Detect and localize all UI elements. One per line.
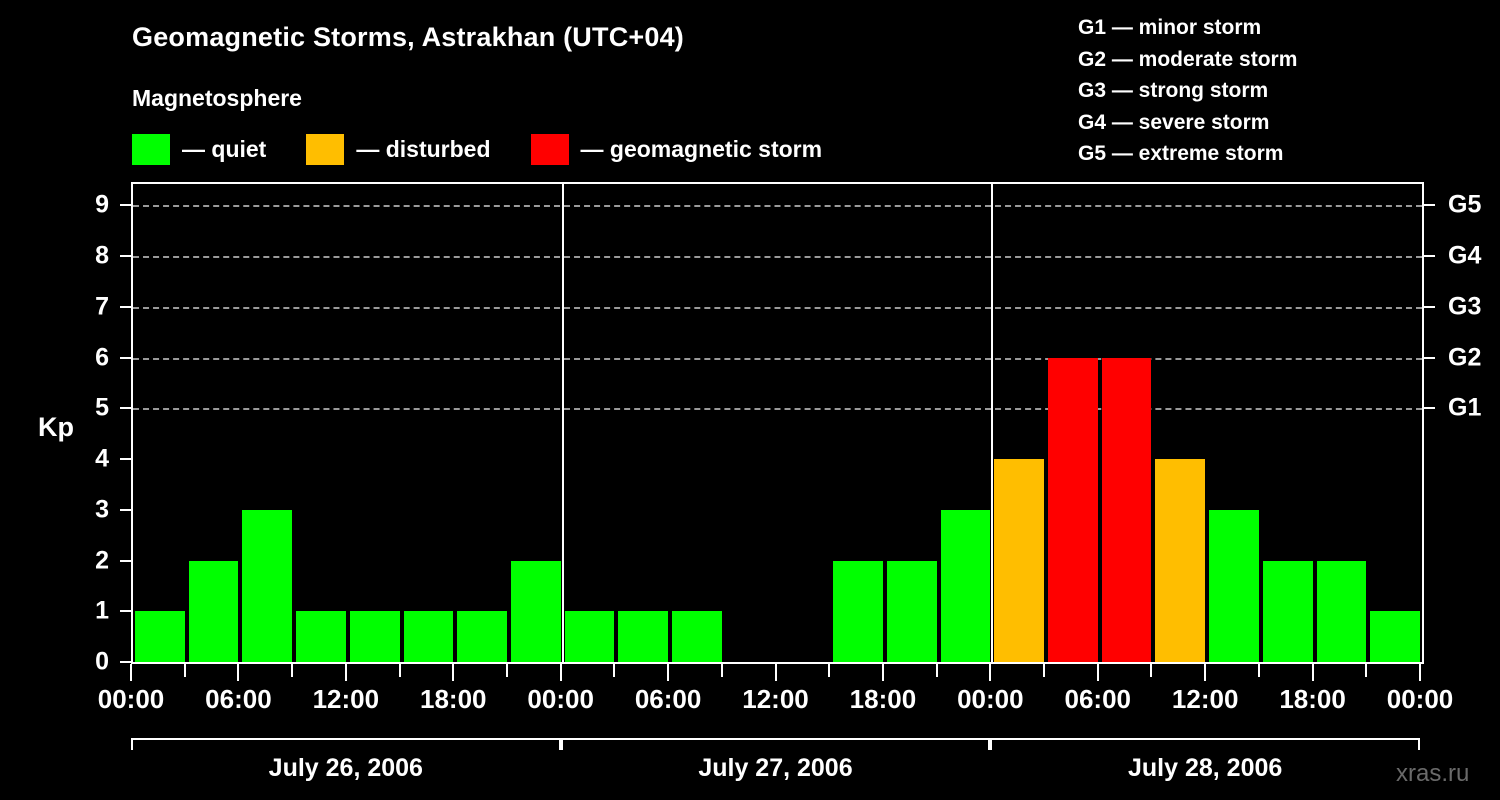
kp-tick-label-2: 2 <box>95 546 109 575</box>
kp-tick-mark-9 <box>120 204 131 206</box>
kp-tick-label-7: 7 <box>95 292 109 321</box>
g-tick-mark-g3 <box>1424 306 1435 308</box>
kp-tick-mark-2 <box>120 560 131 562</box>
time-tick-mark-minor <box>1043 664 1045 677</box>
legend-label-quiet: — quiet <box>182 136 266 163</box>
bar <box>404 611 454 662</box>
time-tick-label: 00:00 <box>98 684 165 715</box>
g-tick-label-g1: G1 <box>1448 394 1481 423</box>
bars-layer <box>133 184 1422 662</box>
kp-tick-mark-0 <box>120 661 131 663</box>
page-title: Geomagnetic Storms, Astrakhan (UTC+04) <box>132 22 684 53</box>
g-scale-line-g2: G2 — moderate storm <box>1078 44 1297 76</box>
kp-tick-label-3: 3 <box>95 495 109 524</box>
g-tick-label-g2: G2 <box>1448 343 1481 372</box>
time-tick-mark <box>667 664 669 681</box>
bar <box>1370 611 1420 662</box>
g-scale-axis: G1G2G3G4G5 <box>1424 182 1500 664</box>
g-tick-mark-g1 <box>1424 407 1435 409</box>
g-tick-label-g4: G4 <box>1448 242 1481 271</box>
g-tick-mark-g4 <box>1424 255 1435 257</box>
bar <box>1209 510 1259 662</box>
orange-swatch-icon <box>306 134 344 165</box>
kp-tick-mark-8 <box>120 255 131 257</box>
bar <box>941 510 991 662</box>
date-band: July 28, 2006 <box>990 738 1420 796</box>
time-tick-mark <box>237 664 239 681</box>
time-tick-label: 12:00 <box>742 684 809 715</box>
bar <box>511 561 561 662</box>
kp-tick-label-0: 0 <box>95 648 109 677</box>
bar <box>296 611 346 662</box>
plot-inner <box>133 184 1422 662</box>
date-band: July 26, 2006 <box>131 738 561 796</box>
green-swatch-icon <box>132 134 170 165</box>
kp-tick-label-8: 8 <box>95 242 109 271</box>
date-band-bracket <box>990 738 1420 750</box>
g-tick-mark-g2 <box>1424 357 1435 359</box>
kp-tick-label-9: 9 <box>95 191 109 220</box>
kp-tick-mark-3 <box>120 509 131 511</box>
bar <box>672 611 722 662</box>
plot-area <box>131 182 1424 664</box>
bar <box>833 561 883 662</box>
g-tick-mark-g5 <box>1424 204 1435 206</box>
time-tick-label: 12:00 <box>313 684 380 715</box>
date-band-bracket <box>131 738 561 750</box>
time-tick-label: 06:00 <box>205 684 272 715</box>
time-tick-label: 18:00 <box>850 684 917 715</box>
red-swatch-icon <box>531 134 569 165</box>
time-tick-mark-minor <box>506 664 508 677</box>
time-tick-mark-minor <box>1150 664 1152 677</box>
g-tick-label-g3: G3 <box>1448 292 1481 321</box>
bar <box>887 561 937 662</box>
time-tick-mark <box>882 664 884 681</box>
kp-tick-label-4: 4 <box>95 445 109 474</box>
y-axis-title: Kp <box>38 412 74 443</box>
geomagnetic-storm-chart: Geomagnetic Storms, Astrakhan (UTC+04) M… <box>0 0 1500 800</box>
kp-tick-label-5: 5 <box>95 394 109 423</box>
bar <box>1155 459 1205 662</box>
time-tick-mark-minor <box>399 664 401 677</box>
time-tick-mark-minor <box>828 664 830 677</box>
legend-label-disturbed: — disturbed <box>356 136 490 163</box>
time-tick-label: 06:00 <box>1065 684 1132 715</box>
date-bands: July 26, 2006July 27, 2006July 28, 2006 <box>131 738 1424 796</box>
time-tick-label: 00:00 <box>1387 684 1454 715</box>
legend-heading: Magnetosphere <box>132 85 302 112</box>
time-axis: 00:0006:0012:0018:0000:0006:0012:0018:00… <box>131 664 1424 724</box>
bar <box>618 611 668 662</box>
g-tick-label-g5: G5 <box>1448 191 1481 220</box>
time-tick-mark <box>452 664 454 681</box>
bar <box>565 611 615 662</box>
kp-tick-label-6: 6 <box>95 343 109 372</box>
time-tick-mark <box>989 664 991 681</box>
kp-tick-mark-4 <box>120 458 131 460</box>
time-tick-mark-minor <box>721 664 723 677</box>
time-tick-mark <box>775 664 777 681</box>
watermark: xras.ru <box>1396 760 1469 788</box>
bar <box>994 459 1044 662</box>
kp-tick-mark-7 <box>120 306 131 308</box>
kp-tick-label-1: 1 <box>95 597 109 626</box>
time-tick-mark <box>130 664 132 681</box>
bar <box>1317 561 1367 662</box>
bar <box>189 561 239 662</box>
time-tick-mark <box>1312 664 1314 681</box>
kp-tick-mark-1 <box>120 610 131 612</box>
kp-tick-mark-5 <box>120 407 131 409</box>
time-tick-mark-minor <box>1365 664 1367 677</box>
g-scale-line-g1: G1 — minor storm <box>1078 12 1297 44</box>
bar <box>1102 358 1152 662</box>
day-separator <box>991 184 993 662</box>
time-tick-mark <box>345 664 347 681</box>
date-band-bracket <box>561 738 991 750</box>
day-separator <box>562 184 564 662</box>
time-tick-label: 06:00 <box>635 684 702 715</box>
time-tick-label: 00:00 <box>527 684 594 715</box>
g-scale-line-g5: G5 — extreme storm <box>1078 138 1297 170</box>
bar <box>242 510 292 662</box>
bar <box>457 611 507 662</box>
time-tick-mark-minor <box>936 664 938 677</box>
bar <box>350 611 400 662</box>
time-tick-label: 18:00 <box>420 684 487 715</box>
time-tick-mark <box>1204 664 1206 681</box>
bar <box>1048 358 1098 662</box>
bar <box>135 611 185 662</box>
legend-entry-disturbed: — disturbed <box>306 133 490 165</box>
date-band-label: July 26, 2006 <box>131 754 561 783</box>
time-tick-mark-minor <box>1258 664 1260 677</box>
legend-label-storm: — geomagnetic storm <box>581 136 823 163</box>
time-tick-mark <box>560 664 562 681</box>
time-tick-mark-minor <box>613 664 615 677</box>
legend-entry-quiet: — quiet <box>132 133 266 165</box>
time-tick-mark-minor <box>291 664 293 677</box>
time-tick-mark-minor <box>184 664 186 677</box>
date-band-label: July 27, 2006 <box>561 754 991 783</box>
magnetosphere-legend: — quiet — disturbed — geomagnetic storm <box>132 133 822 165</box>
g-scale-legend: G1 — minor storm G2 — moderate storm G3 … <box>1078 12 1297 170</box>
g-scale-line-g3: G3 — strong storm <box>1078 75 1297 107</box>
date-band-label: July 28, 2006 <box>990 754 1420 783</box>
time-tick-mark <box>1419 664 1421 681</box>
time-tick-label: 18:00 <box>1279 684 1346 715</box>
time-tick-label: 12:00 <box>1172 684 1239 715</box>
time-tick-mark <box>1097 664 1099 681</box>
bar <box>1263 561 1313 662</box>
kp-tick-mark-6 <box>120 357 131 359</box>
legend-entry-storm: — geomagnetic storm <box>531 133 823 165</box>
date-band: July 27, 2006 <box>561 738 991 796</box>
time-tick-label: 00:00 <box>957 684 1024 715</box>
g-scale-line-g4: G4 — severe storm <box>1078 107 1297 139</box>
